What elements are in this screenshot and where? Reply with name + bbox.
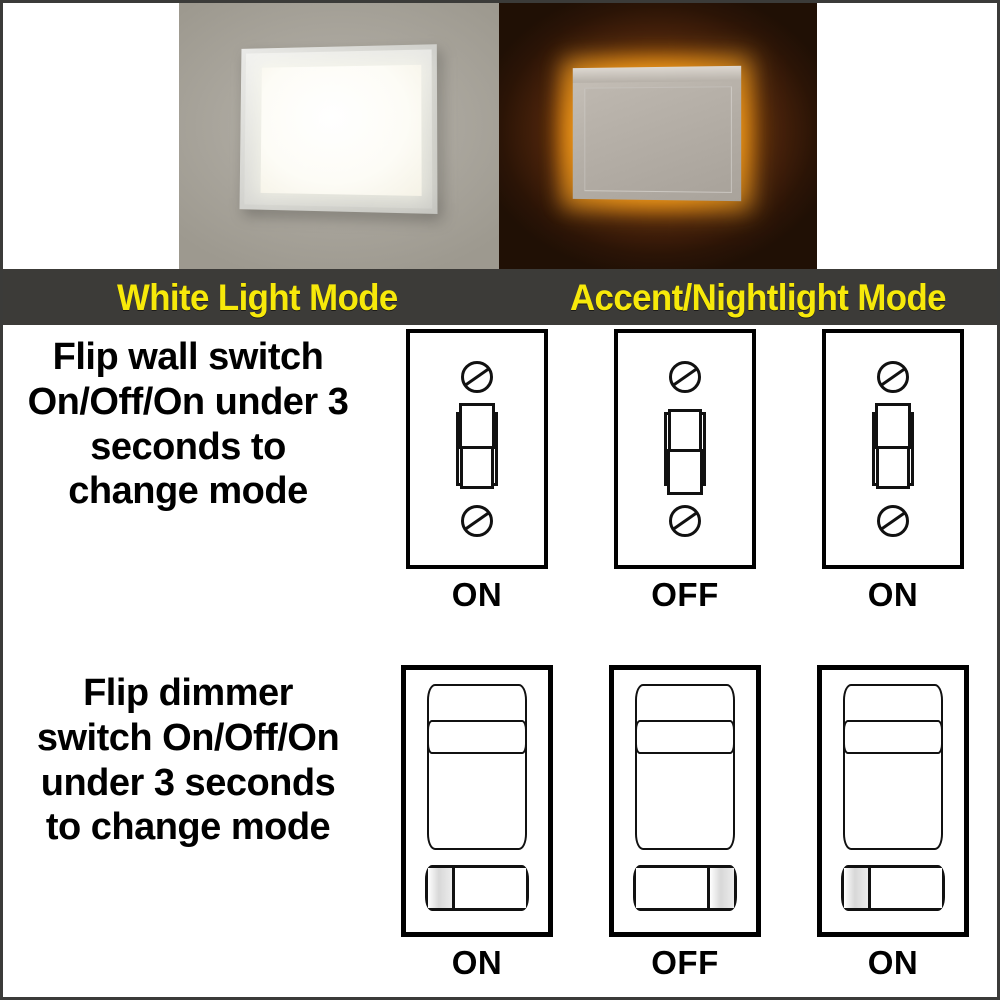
dimmer-switch-step-3: ON (793, 665, 993, 982)
instruction-grid: Flip wall switch On/Off/On under 3 secon… (3, 325, 997, 997)
screw-icon-top (669, 361, 701, 393)
toggle-lever-frame[interactable] (456, 412, 498, 486)
wall-switch-state-label-1: ON (452, 576, 503, 614)
dimmer-switch-plate[interactable] (817, 665, 969, 937)
dimmer-switch-plate[interactable] (609, 665, 761, 937)
fixture-lens-illuminated (260, 64, 421, 196)
banner-cell-accent-nightlight: Accent/Nightlight Mode (519, 269, 997, 325)
rocker-plain-side (871, 868, 942, 908)
banner-label-white-light-mode: White Light Mode (117, 279, 398, 316)
mode-banner: White Light Mode Accent/Nightlight Mode (3, 269, 997, 325)
toggle-lever-body (668, 409, 702, 449)
toggle-lever-down[interactable] (667, 449, 703, 495)
wall-switch-diagram-columns: ON OFF (373, 325, 997, 661)
dimmer-switch-plate[interactable] (401, 665, 553, 937)
screw-icon-bottom (669, 505, 701, 537)
screw-icon-top (461, 361, 493, 393)
dimmer-paddle[interactable] (427, 684, 527, 850)
toggle-lever-body (460, 449, 494, 489)
screw-icon-top (877, 361, 909, 393)
dimmer-paddle[interactable] (635, 684, 735, 850)
toggle-lever-body (876, 449, 910, 489)
toggle-lever-up[interactable] (875, 403, 911, 449)
banner-cell-white-light: White Light Mode (3, 269, 519, 325)
dimmer-switch-state-label-3: ON (868, 944, 919, 982)
toggle-lever-frame[interactable] (872, 412, 914, 486)
white-light-mode-photo (179, 3, 499, 269)
wall-switch-step-3: ON (793, 329, 993, 614)
dimmer-paddle[interactable] (843, 684, 943, 850)
photo-strip-right-padding (817, 3, 997, 269)
rocker-shaded-side (707, 868, 734, 908)
dimmer-switch-step-1: ON (377, 665, 577, 982)
toggle-lever-frame[interactable] (664, 412, 706, 486)
instruction-row-dimmer-switch: Flip dimmer switch On/Off/On under 3 sec… (3, 661, 997, 997)
ceiling-light-fixture-white (239, 44, 437, 214)
instruction-graphic: White Light Mode Accent/Nightlight Mode … (0, 0, 1000, 1000)
photo-strip (3, 3, 997, 269)
dimmer-rocker-off[interactable] (633, 865, 737, 911)
rocker-plain-side (455, 868, 526, 908)
instruction-row-wall-switch: Flip wall switch On/Off/On under 3 secon… (3, 325, 997, 661)
dimmer-rocker-on[interactable] (841, 865, 945, 911)
rocker-shaded-side (428, 868, 455, 908)
toggle-lever-up[interactable] (459, 403, 495, 449)
toggle-switch-plate[interactable] (822, 329, 964, 569)
photo-strip-left-padding (3, 3, 179, 269)
dimmer-paddle-slot (635, 720, 735, 754)
wall-switch-step-2: OFF (585, 329, 785, 614)
wall-switch-step-1: ON (377, 329, 577, 614)
wall-switch-instruction-text: Flip wall switch On/Off/On under 3 secon… (23, 335, 353, 514)
dimmer-switch-instruction-text: Flip dimmer switch On/Off/On under 3 sec… (23, 671, 353, 850)
dimmer-paddle-slot (843, 720, 943, 754)
screw-icon-bottom (461, 505, 493, 537)
dimmer-switch-diagram-columns: ON OFF (373, 661, 997, 997)
accent-nightlight-mode-photo (499, 3, 817, 269)
toggle-switch-plate[interactable] (614, 329, 756, 569)
dimmer-switch-state-label-2: OFF (651, 944, 718, 982)
dimmer-rocker-on[interactable] (425, 865, 529, 911)
dimmer-paddle-slot (427, 720, 527, 754)
rocker-shaded-side (844, 868, 871, 908)
fixture-rim (572, 66, 740, 83)
wall-switch-text-column: Flip wall switch On/Off/On under 3 secon… (3, 325, 373, 661)
screw-icon-bottom (877, 505, 909, 537)
dimmer-switch-step-2: OFF (585, 665, 785, 982)
wall-switch-state-label-3: ON (868, 576, 919, 614)
banner-label-accent-nightlight-mode: Accent/Nightlight Mode (570, 279, 946, 316)
ceiling-light-fixture-accent (572, 66, 740, 201)
wall-switch-state-label-2: OFF (651, 576, 718, 614)
rocker-plain-side (636, 868, 707, 908)
toggle-switch-plate[interactable] (406, 329, 548, 569)
dimmer-switch-text-column: Flip dimmer switch On/Off/On under 3 sec… (3, 661, 373, 997)
fixture-lens-unlit (584, 86, 732, 193)
dimmer-switch-state-label-1: ON (452, 944, 503, 982)
